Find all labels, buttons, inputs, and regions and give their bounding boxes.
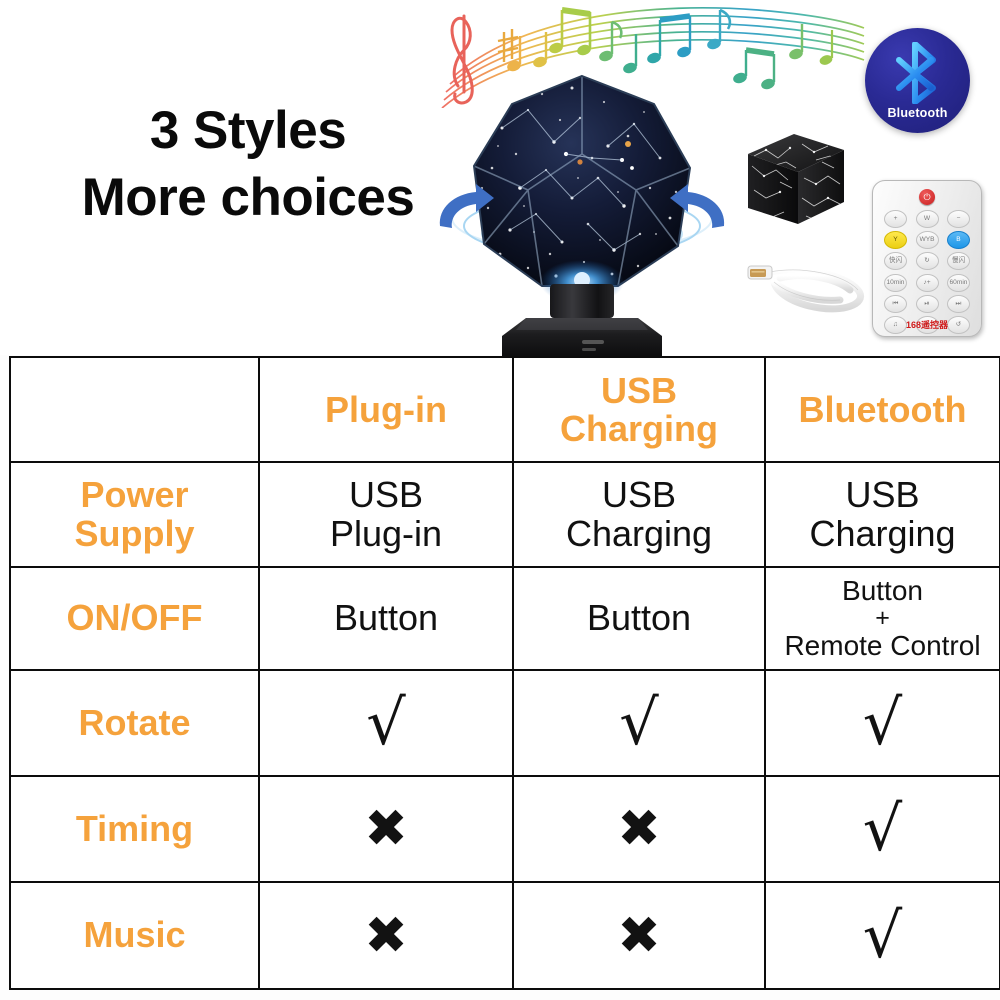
row-label-onoff: ON/OFF	[10, 567, 259, 670]
cell-line2: Plug-in	[260, 515, 512, 554]
cell-timing-plugin: ✖	[259, 776, 513, 882]
row-label-power-supply: Power Supply	[10, 462, 259, 567]
remote-button-minus[interactable]: −	[947, 210, 970, 228]
check-mark: √	[766, 692, 999, 754]
cell-line2: Charging	[766, 515, 999, 554]
header-cell-usb-charging: USB Charging	[513, 357, 765, 462]
cell-music-plugin: ✖	[259, 882, 513, 989]
remote-row: Y WYB B	[884, 231, 970, 249]
cross-mark: ✖	[514, 803, 764, 855]
remote-row: 10min ♪+ 60min	[884, 274, 970, 292]
row-label-rotate: Rotate	[10, 670, 259, 776]
header-cell-bluetooth: Bluetooth	[765, 357, 1000, 462]
infographic-page: 3 Styles More choices	[0, 0, 1000, 1000]
cell-line2: Remote Control	[766, 631, 999, 661]
cell-line1: Button	[260, 599, 512, 638]
remote-button-next[interactable]: ⏭	[947, 295, 970, 313]
row-label-line1: ON/OFF	[11, 599, 258, 637]
remote-button-fast-flash[interactable]: 快闪	[884, 252, 907, 270]
table-row-onoff: ON/OFF Button Button Button + Remote Con…	[10, 567, 1000, 670]
remote-control: ⏻ + W − Y WYB B 快闪 ↻ 慢闪 10min	[872, 180, 982, 337]
check-mark: √	[260, 692, 512, 754]
row-label-line1: Power	[11, 476, 258, 514]
row-label-line1: Timing	[11, 810, 258, 848]
cell-rotate-bluetooth: √	[765, 670, 1000, 776]
remote-button-wyb[interactable]: WYB	[916, 231, 939, 249]
remote-button-slow-flash[interactable]: 慢闪	[947, 252, 970, 270]
remote-button-prev[interactable]: ⏮	[884, 295, 907, 313]
cross-mark: ✖	[260, 803, 512, 855]
cell-line1: Button	[514, 599, 764, 638]
constellation-gift-box	[736, 126, 856, 236]
cell-timing-usb: ✖	[513, 776, 765, 882]
remote-power-button[interactable]: ⏻	[919, 189, 935, 205]
remote-model-label: 168遥控器	[873, 318, 981, 331]
bluetooth-badge: Bluetooth	[865, 28, 970, 133]
cell-music-bluetooth: √	[765, 882, 1000, 989]
cross-mark: ✖	[260, 910, 512, 962]
check-mark: √	[766, 905, 999, 967]
headline-line-1: 3 Styles	[48, 98, 448, 165]
cell-line2: Charging	[514, 515, 764, 554]
remote-button-play-pause[interactable]: ⏯	[916, 295, 939, 313]
usb-cable	[740, 248, 880, 333]
remote-row: + W −	[884, 210, 970, 228]
table-row-power-supply: Power Supply USB Plug-in USB Charging US…	[10, 462, 1000, 567]
cell-power-bluetooth: USB Charging	[765, 462, 1000, 567]
cell-power-usb: USB Charging	[513, 462, 765, 567]
remote-button-timer-60[interactable]: 60min	[947, 274, 970, 292]
check-mark: √	[766, 798, 999, 860]
cell-onoff-usb: Button	[513, 567, 765, 670]
check-mark: √	[514, 692, 764, 754]
cell-onoff-bluetooth: Button + Remote Control	[765, 567, 1000, 670]
remote-row: ⏮ ⏯ ⏭	[884, 295, 970, 313]
table-header-row: Plug-in USB Charging Bluetooth	[10, 357, 1000, 462]
row-label-line1: Music	[11, 916, 258, 954]
cell-plus: +	[766, 606, 999, 631]
headline-line-2: More choices	[48, 165, 448, 232]
cell-line1: Button	[766, 576, 999, 606]
table-row-music: Music ✖ ✖ √	[10, 882, 1000, 989]
remote-row: 快闪 ↻ 慢闪	[884, 252, 970, 270]
remote-button-rotate[interactable]: ↻	[916, 252, 939, 270]
cell-timing-bluetooth: √	[765, 776, 1000, 882]
remote-button-w[interactable]: W	[916, 210, 939, 228]
header-plugin-label: Plug-in	[260, 391, 512, 428]
hero-section: 3 Styles More choices	[0, 0, 1000, 355]
cell-music-usb: ✖	[513, 882, 765, 989]
page-title: 3 Styles More choices	[48, 98, 448, 232]
remote-button-yellow[interactable]: Y	[884, 231, 907, 249]
header-usb-line2: Charging	[514, 410, 764, 447]
cell-line1: USB	[514, 476, 764, 515]
cell-line1: USB	[260, 476, 512, 515]
remote-button-vol-up[interactable]: ♪+	[916, 274, 939, 292]
remote-button-blue[interactable]: B	[947, 231, 970, 249]
comparison-table: Plug-in USB Charging Bluetooth Power Sup…	[9, 356, 1000, 990]
table-row-timing: Timing ✖ ✖ √	[10, 776, 1000, 882]
header-cell-empty	[10, 357, 259, 462]
row-label-line1: Rotate	[11, 704, 258, 742]
table-row-rotate: Rotate √ √ √	[10, 670, 1000, 776]
remote-button-plus[interactable]: +	[884, 210, 907, 228]
row-label-timing: Timing	[10, 776, 259, 882]
cell-rotate-usb: √	[513, 670, 765, 776]
header-usb-line1: USB	[514, 372, 764, 409]
header-cell-plugin: Plug-in	[259, 357, 513, 462]
header-bluetooth-label: Bluetooth	[766, 391, 999, 428]
cross-mark: ✖	[514, 910, 764, 962]
remote-button-timer-10[interactable]: 10min	[884, 274, 907, 292]
cell-onoff-plugin: Button	[259, 567, 513, 670]
cell-rotate-plugin: √	[259, 670, 513, 776]
cell-line1: USB	[766, 476, 999, 515]
bluetooth-icon	[891, 42, 945, 104]
star-projector-lamp	[432, 58, 732, 358]
row-label-line2: Supply	[11, 515, 258, 553]
row-label-music: Music	[10, 882, 259, 989]
cell-power-plugin: USB Plug-in	[259, 462, 513, 567]
bluetooth-badge-label: Bluetooth	[865, 106, 970, 120]
